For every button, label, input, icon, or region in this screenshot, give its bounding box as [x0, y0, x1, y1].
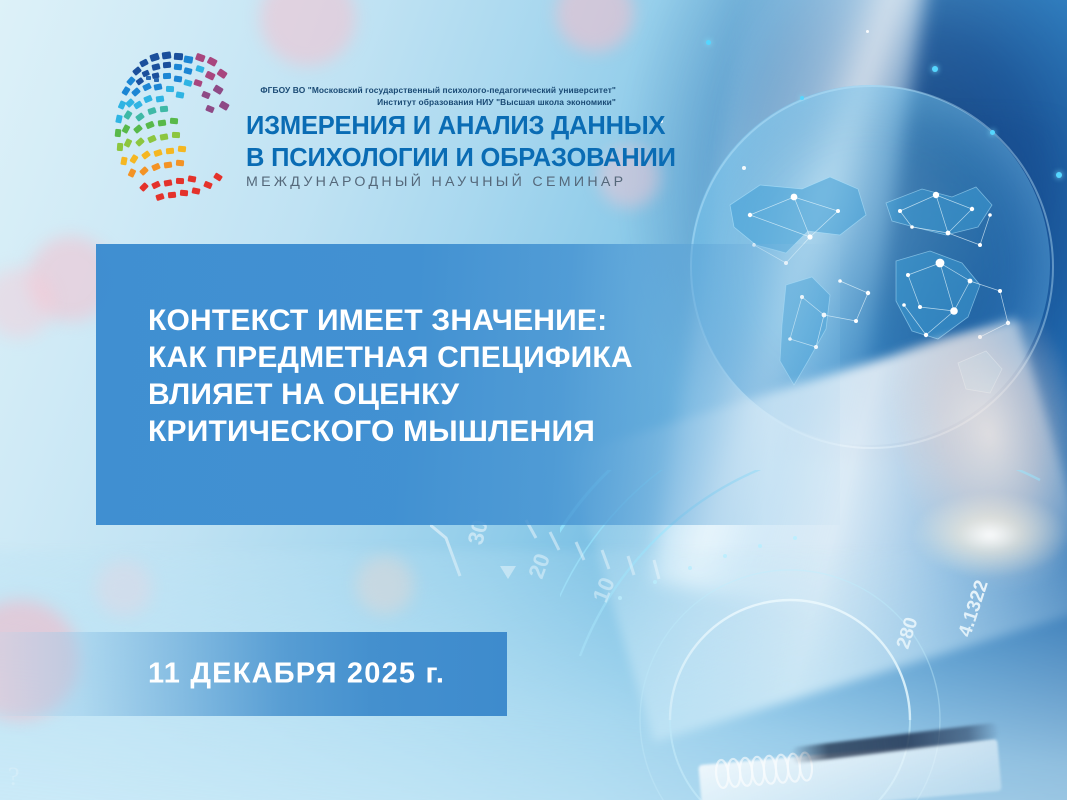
- background-glow-dot: [1056, 172, 1062, 178]
- title-line: КОНТЕКСТ ИМЕЕТ ЗНАЧЕНИЕ:: [148, 302, 788, 339]
- logo-text-block: ФГБОУ ВО "Московский государственный пси…: [246, 84, 616, 191]
- background-glow-dot: [932, 66, 938, 72]
- presentation-slide: 30 20 10 280 4.1322: [0, 0, 1067, 800]
- date-banner: 11 ДЕКАБРЯ 2025 г.: [0, 632, 507, 716]
- globe-mosaic-icon: [96, 46, 244, 216]
- title-line: КРИТИЧЕСКОГО МЫШЛЕНИЯ: [148, 413, 788, 450]
- background-glow-dot: [706, 40, 711, 45]
- background-glow-dot: [990, 130, 995, 135]
- logo-name-line-2: В ПСИХОЛОГИИ И ОБРАЗОВАНИИ: [246, 145, 616, 172]
- event-date: 11 ДЕКАБРЯ 2025 г.: [148, 658, 445, 691]
- logo-affiliation-line-2: Институт образования НИУ "Высшая школа э…: [246, 96, 616, 108]
- background-glow-dot: [866, 30, 869, 33]
- slide-title: КОНТЕКСТ ИМЕЕТ ЗНАЧЕНИЕ: КАК ПРЕДМЕТНАЯ …: [148, 302, 788, 450]
- logo-name-line-1: ИЗМЕРЕНИЯ И АНАЛИЗ ДАННЫХ: [246, 113, 616, 140]
- bokeh-circle: [96, 560, 152, 616]
- logo-subtitle: МЕЖДУНАРОДНЫЙ НАУЧНЫЙ СЕМИНАР: [246, 174, 616, 191]
- bokeh-circle: [356, 556, 414, 614]
- title-line: ВЛИЯЕТ НА ОЦЕНКУ: [148, 376, 788, 413]
- title-line: КАК ПРЕДМЕТНАЯ СПЕЦИФИКА: [148, 339, 788, 376]
- background-watermark: ?: [8, 762, 22, 792]
- background-glow-dot: [800, 96, 804, 100]
- title-banner: КОНТЕКСТ ИМЕЕТ ЗНАЧЕНИЕ: КАК ПРЕДМЕТНАЯ …: [96, 244, 840, 525]
- background-glow-dot: [742, 166, 746, 170]
- seminar-logo: ФГБОУ ВО "Московский государственный пси…: [96, 46, 616, 226]
- logo-affiliation-line-1: ФГБОУ ВО "Московский государственный пси…: [246, 84, 616, 96]
